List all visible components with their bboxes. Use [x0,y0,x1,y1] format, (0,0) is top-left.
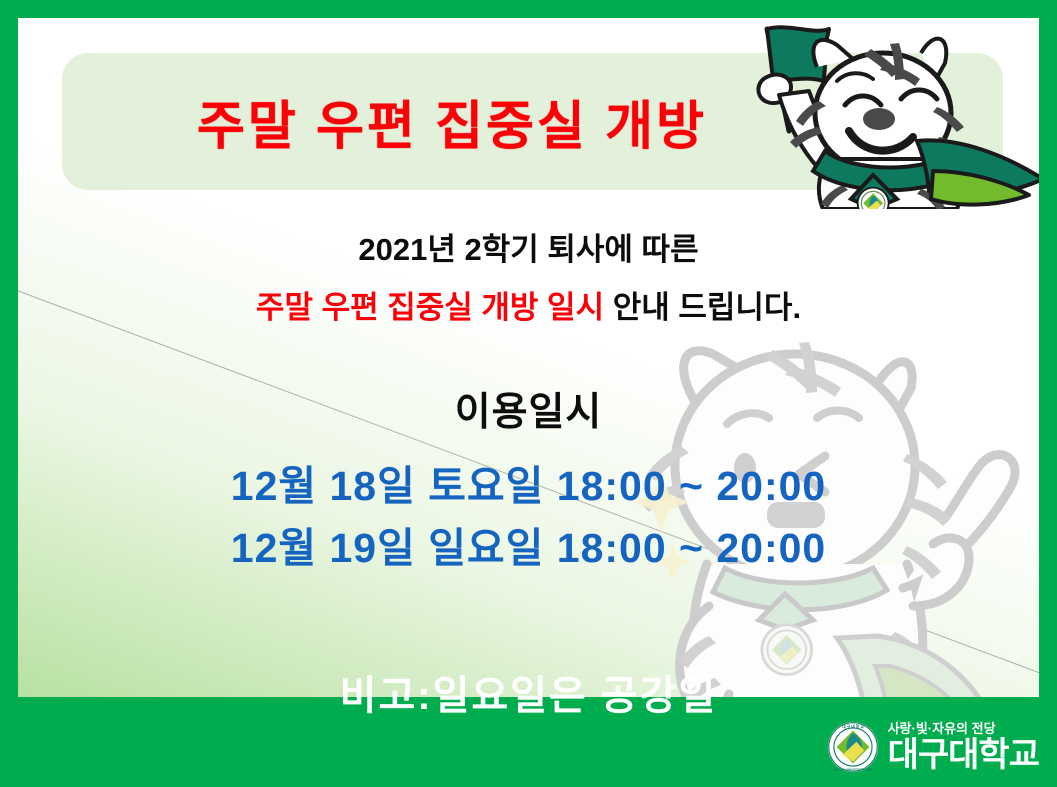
lead-line-2-rest: 안내 드립니다. [604,290,801,325]
logo-tagline: 사랑·빛·자유의 전당 [888,722,1039,735]
lead-line-2-highlight: 주말 우편 집중실 개방 일시 [256,290,604,325]
schedule-row-saturday: 12월 18일 토요일 18:00 ~ 20:00 [18,455,1039,517]
logo-university-name: 대구대학교 [888,738,1039,772]
svg-text:DAEGU UNIVERSITY 1956: DAEGU UNIVERSITY 1956 [833,767,872,771]
poster-root: 주말 우편 집중실 개방 [0,0,1057,787]
logo-text-group: 사랑·빛·자유의 전당 대구대학교 [888,722,1039,772]
schedule-row-sunday: 12월 19일 일요일 18:00 ~ 20:00 [18,517,1039,579]
schedule-block: 이용일시 12월 18일 토요일 18:00 ~ 20:00 12월 19일 일… [18,381,1039,580]
lead-paragraph: 2021년 2학기 퇴사에 따른 주말 우편 집중실 개방 일시 안내 드립니다… [18,224,1039,327]
poster-canvas: 주말 우편 집중실 개방 [18,18,1039,697]
daegu-university-seal-icon: 대 구 대 학 교 DAEGU UNIVERSITY 1956 [827,721,879,773]
lead-line-1: 2021년 2학기 퇴사에 따른 [18,224,1039,269]
schedule-heading: 이용일시 [18,381,1039,437]
university-logo: 대 구 대 학 교 DAEGU UNIVERSITY 1956 사랑·빛·자유의… [827,721,1039,773]
svg-text:대 구 대 학 교: 대 구 대 학 교 [842,724,864,729]
page-title: 주말 우편 집중실 개방 [62,53,842,190]
note-text: 비고:일요일은 공강일 [18,663,1039,697]
lead-line-2: 주말 우편 집중실 개방 일시 안내 드립니다. [18,282,1039,327]
